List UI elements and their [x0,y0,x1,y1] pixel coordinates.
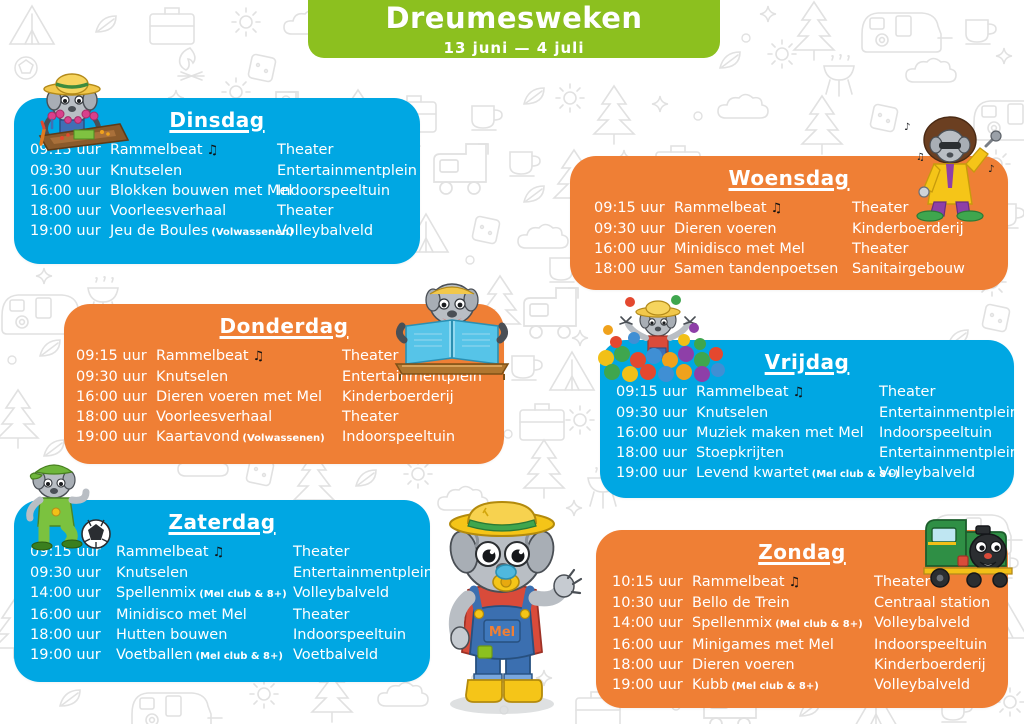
schedule-time: 19:00 uur [30,645,116,665]
schedule-location: Kinderboerderij [852,219,964,239]
svg-text:♪: ♪ [988,164,994,175]
schedule-row: 16:00 uurBlokken bouwen met MelIndoorspe… [30,181,420,201]
schedule-location: Theater [293,605,349,625]
schedule-activity: Muziek maken met Mel [696,423,879,443]
schedule-row: 09:15 uurRammelbeat♫Theater [616,382,1014,403]
schedule-location: Entertainmentplein [879,443,1019,463]
schedule-activity-note: (Mel club & 8+) [193,651,283,662]
schedule-row: 14:00 uurSpellenmix(Mel club & 8+)Volley… [612,613,1008,635]
schedule-activity-note: (Mel club & 8+) [728,681,818,692]
svg-text:Mel: Mel [489,625,515,640]
schedule-activity: Minigames met Mel [692,635,874,655]
schedule-rows-zaterdag: 09:15 uurRammelbeat♫Theater09:30 uurKnut… [14,536,430,677]
schedule-time: 18:00 uur [30,625,116,645]
schedule-location: Volleybalveld [293,583,389,603]
schedule-activity: Knutselen [110,161,277,181]
schedule-time: 19:00 uur [612,675,692,695]
schedule-location: Volleybalveld [874,675,970,695]
schedule-activity: Knutselen [116,563,293,583]
schedule-activity: Voorleesverhaal [156,407,342,427]
schedule-location: Entertainmentplein [879,403,1019,423]
schedule-location: Kinderboerderij [874,655,986,675]
schedule-row: 18:00 uurDieren voerenKinderboerderij [612,655,1008,675]
schedule-time: 09:15 uur [594,198,674,218]
schedule-activity: Dieren voeren [692,655,874,675]
schedule-location: Indoorspeeltuin [293,625,406,645]
svg-text:♫: ♫ [916,152,925,163]
schedule-time: 14:00 uur [30,583,116,603]
music-note-icon: ♫ [785,575,801,590]
schedule-time: 14:00 uur [612,613,692,633]
schedule-time: 18:00 uur [612,655,692,675]
schedule-rows-dinsdag: 09:15 uurRammelbeat♫Theater09:30 uurKnut… [14,134,420,253]
schedule-time: 16:00 uur [594,239,674,259]
schedule-row: 09:30 uurKnutselenEntertainmentplein [30,161,420,181]
schedule-row: 18:00 uurSamen tandenpoetsenSanitairgebo… [594,259,1008,279]
schedule-location: Volleybalveld [879,463,975,483]
schedule-time: 09:30 uur [30,161,110,181]
schedule-row: 19:00 uurLevend kwartet(Mel club & 8+)Vo… [616,463,1014,485]
schedule-time: 09:15 uur [616,382,696,402]
schedule-row: 09:30 uurDieren voerenKinderboerderij [594,219,1008,239]
schedule-time: 18:00 uur [30,201,110,221]
schedule-activity: Kubb(Mel club & 8+) [692,675,874,697]
disco-dancer-mascot-icon: ♪♪♫ [900,112,1004,220]
schedule-activity: Voorleesverhaal [110,201,277,221]
schedule-activity: Voetballen(Mel club & 8+) [116,645,293,667]
schedule-row: 18:00 uurStoepkrijtenEntertainmentplein [616,443,1014,463]
music-note-icon: ♫ [249,349,265,364]
schedule-activity: Jeu de Boules(Volwassenen) [110,221,277,243]
crafting-table-mascot-icon [16,58,128,150]
header-banner: Dreumesweken 13 juni — 4 juli [308,0,720,58]
schedule-row: 19:00 uurJeu de Boules(Volwassenen)Volle… [30,221,420,243]
schedule-activity: Rammelbeat♫ [674,198,852,219]
schedule-row: 16:00 uurMinidisco met MelTheater [30,605,430,625]
schedule-row: 16:00 uurMinigames met MelIndoorspeeltui… [612,635,1008,655]
schedule-time: 16:00 uur [612,635,692,655]
schedule-time: 18:00 uur [594,259,674,279]
mascot-mel-icon: Mel [424,498,580,714]
schedule-location: Volleybalveld [874,613,970,633]
schedule-time: 19:00 uur [616,463,696,483]
schedule-row: 19:00 uurVoetballen(Mel club & 8+)Voetba… [30,645,430,667]
schedule-activity: Rammelbeat♫ [696,382,879,403]
schedule-activity: Dieren voeren [674,219,852,239]
schedule-activity: Spellenmix(Mel club & 8+) [692,613,874,635]
schedule-time: 09:30 uur [76,367,156,387]
schedule-time: 09:30 uur [616,403,696,423]
schedule-location: Centraal station [874,593,990,613]
schedule-activity-note: (Mel club & 8+) [196,589,286,600]
schedule-activity: Knutselen [156,367,342,387]
schedule-activity: Samen tandenpoetsen [674,259,852,279]
schedule-time: 10:30 uur [612,593,692,613]
schedule-activity: Rammelbeat♫ [692,572,874,593]
schedule-activity: Kaartavond(Volwassenen) [156,427,342,449]
schedule-location: Theater [879,382,935,402]
schedule-time: 16:00 uur [616,423,696,443]
schedule-time: 19:00 uur [76,427,156,447]
schedule-time: 19:00 uur [30,221,110,241]
schedule-time: 10:15 uur [612,572,692,592]
schedule-location: Indoorspeeltuin [342,427,455,447]
schedule-activity: Hutten bouwen [116,625,293,645]
page-date-range: 13 juni — 4 juli [308,33,720,57]
schedule-location: Entertainmentplein [277,161,417,181]
schedule-row: 18:00 uurVoorleesverhaalTheater [30,201,420,221]
schedule-activity: Dieren voeren met Mel [156,387,342,407]
schedule-activity-note: (Volwassenen) [239,433,324,444]
schedule-row: 16:00 uurMinidisco met MelTheater [594,239,1008,259]
schedule-location: Indoorspeeltuin [874,635,987,655]
schedule-activity: Rammelbeat♫ [156,346,342,367]
schedule-activity: Minidisco met Mel [116,605,293,625]
schedule-location: Entertainmentplein [293,563,433,583]
schedule-location: Sanitairgebouw [852,259,965,279]
schedule-row: 16:00 uurMuziek maken met MelIndoorspeel… [616,423,1014,443]
schedule-activity: Rammelbeat♫ [110,140,277,161]
schedule-location: Theater [293,542,349,562]
schedule-location: Theater [277,201,333,221]
schedule-row: 19:00 uurKaartavond(Volwassenen)Indoorsp… [76,427,504,449]
schedule-time: 09:30 uur [594,219,674,239]
schedule-activity: Minidisco met Mel [674,239,852,259]
reading-book-mascot-icon [392,280,512,380]
schedule-location: Theater [342,407,398,427]
schedule-time: 09:30 uur [30,563,116,583]
schedule-row: 18:00 uurVoorleesverhaalTheater [76,407,504,427]
ballpit-mascot-icon [600,296,720,380]
music-note-icon: ♫ [789,385,805,400]
schedule-activity: Spellenmix(Mel club & 8+) [116,583,293,605]
footballer-mascot-icon [16,458,114,550]
schedule-activity: Rammelbeat♫ [116,542,293,563]
schedule-location: Theater [852,239,908,259]
schedule-row: 14:00 uurSpellenmix(Mel club & 8+)Volley… [30,583,430,605]
schedule-activity: Knutselen [696,403,879,423]
schedule-time: 18:00 uur [76,407,156,427]
schedule-activity: Blokken bouwen met Mel [110,181,277,201]
schedule-row: 18:00 uurHutten bouwenIndoorspeeltuin [30,625,430,645]
schedule-location: Indoorspeeltuin [277,181,390,201]
schedule-row: 19:00 uurKubb(Mel club & 8+)Volleybalvel… [612,675,1008,697]
schedule-rows-vrijdag: 09:15 uurRammelbeat♫Theater09:30 uurKnut… [600,376,1014,495]
schedule-time: 16:00 uur [30,181,110,201]
schedule-time: 18:00 uur [616,443,696,463]
music-note-icon: ♫ [767,201,783,216]
schedule-location: Voetbalveld [293,645,378,665]
music-note-icon: ♫ [209,545,225,560]
schedule-time: 09:15 uur [76,346,156,366]
schedule-location: Theater [277,140,333,160]
schedule-row: 09:30 uurKnutselenEntertainmentplein [616,403,1014,423]
schedule-time: 16:00 uur [30,605,116,625]
schedule-activity: Stoepkrijten [696,443,879,463]
schedule-activity: Bello de Trein [692,593,874,613]
schedule-location: Theater [342,346,398,366]
schedule-row: 16:00 uurDieren voeren met MelKinderboer… [76,387,504,407]
schedule-row: 09:30 uurKnutselenEntertainmentplein [30,563,430,583]
svg-text:♪: ♪ [904,122,910,133]
schedule-time: 16:00 uur [76,387,156,407]
schedule-activity-note: (Mel club & 8+) [772,619,862,630]
schedule-row: 10:30 uurBello de TreinCentraal station [612,593,1008,613]
page-title: Dreumesweken [308,0,720,33]
music-note-icon: ♫ [203,143,219,158]
schedule-location: Indoorspeeltuin [879,423,992,443]
schedule-location: Kinderboerderij [342,387,454,407]
schedule-location: Volleybalveld [277,221,373,241]
green-train-icon [922,512,1018,590]
schedule-activity: Levend kwartet(Mel club & 8+) [696,463,879,485]
